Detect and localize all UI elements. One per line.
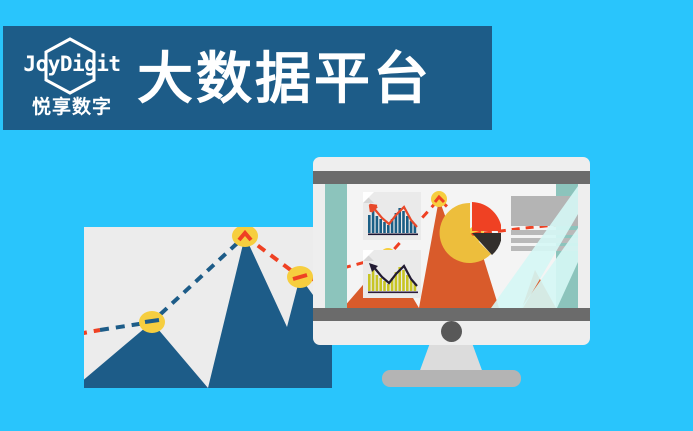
- trend-line-blue: [100, 236, 245, 330]
- pie-chart[interactable]: [439, 202, 501, 264]
- monitor-screen[interactable]: [325, 184, 578, 308]
- text-line: [511, 246, 578, 251]
- bar-chart-blue-svg: [368, 202, 418, 236]
- text-line: [511, 238, 578, 243]
- trend-line-red-start: [84, 330, 100, 334]
- bar-chart-yellow-svg: [368, 260, 418, 294]
- monitor-stand-base: [382, 370, 521, 387]
- brand-logo: JoyDigit 悦享数字: [17, 34, 127, 124]
- page-root: JoyDigit 悦享数字 大数据平台: [0, 0, 693, 431]
- mountain-shape: [84, 236, 332, 388]
- text-line: [511, 230, 578, 235]
- desktop-monitor: [313, 157, 590, 345]
- image-placeholder: [511, 196, 578, 226]
- dashboard-surface: [347, 184, 556, 308]
- bar-chart-blue-card[interactable]: [363, 192, 421, 240]
- mountain-area-chart-svg: [84, 227, 332, 388]
- monitor-stand-neck: [419, 345, 483, 373]
- header-banner: JoyDigit 悦享数字 大数据平台: [3, 26, 492, 130]
- mountain-area-chart-panel: [84, 227, 332, 388]
- bar-chart-yellow-card[interactable]: [363, 250, 421, 298]
- screen-left-strip: [325, 184, 347, 308]
- monitor-bottom-band: [313, 308, 590, 321]
- webcam-icon: [441, 321, 462, 342]
- logo-wordmark: JoyDigit: [17, 52, 127, 76]
- page-title: 大数据平台: [137, 42, 432, 116]
- monitor-top-band: [313, 171, 590, 184]
- pie-slice-red[interactable]: [472, 202, 501, 231]
- text-block-widget[interactable]: [511, 196, 578, 248]
- logo-subtitle: 悦享数字: [17, 92, 127, 119]
